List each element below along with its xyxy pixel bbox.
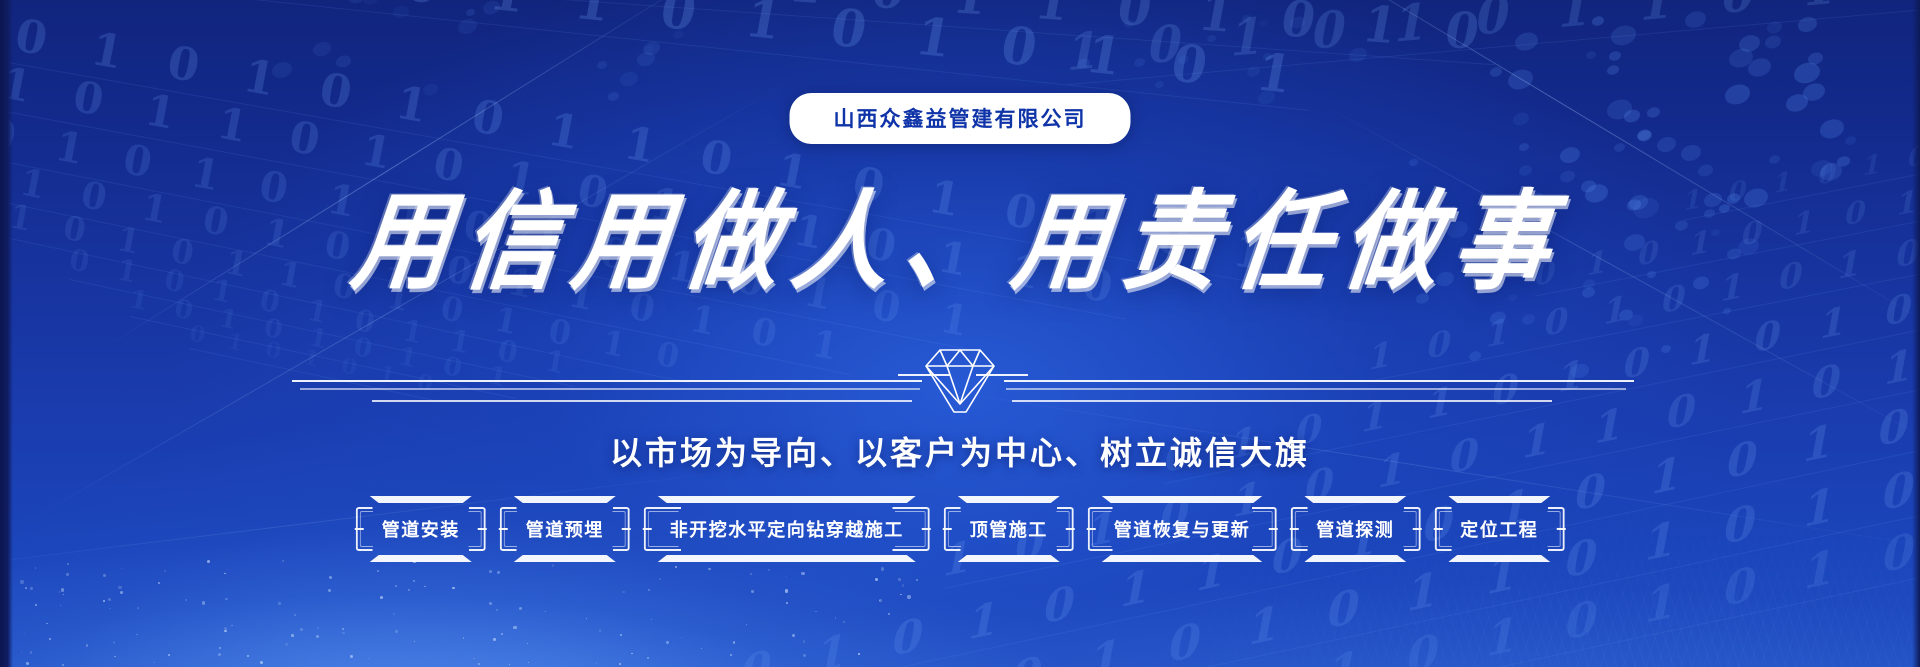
service-tag-row: 管道安装管道预埋非开挖水平定向钻穿越施工顶管施工管道恢复与更新管道探测定位工程 — [356, 507, 1565, 551]
tag-bar-bottom — [1448, 555, 1550, 562]
tag-bar-top — [658, 496, 916, 503]
tag-tick-left — [499, 528, 508, 530]
tag-tick-left — [643, 528, 652, 530]
headline-text: 用信用做人、用责任做事 — [345, 155, 1574, 311]
headline-slogan: 用信用做人、用责任做事 — [355, 163, 1565, 302]
tag-bar-top — [1304, 496, 1406, 503]
tag-bar-bottom — [1102, 555, 1263, 562]
right-edge-strip — [1912, 0, 1920, 667]
tag-tick-left — [1087, 528, 1096, 530]
tag-bar-bottom — [658, 555, 916, 562]
service-tag-6[interactable]: 管道探测 — [1290, 507, 1420, 551]
tag-tick-right — [1412, 528, 1421, 530]
tag-tick-left — [355, 528, 364, 530]
service-tag-4[interactable]: 顶管施工 — [944, 507, 1074, 551]
subtitle-slogan: 以市场为导向、以客户为中心、树立诚信大旗 — [610, 428, 1310, 474]
tag-tick-right — [922, 528, 931, 530]
tag-bar-top — [958, 496, 1060, 503]
company-name-pill: 山西众鑫益管建有限公司 — [790, 93, 1131, 144]
hero-banner: 1 0 1 0 1 1 0 1 0 1 0 1 0 1 0 1 0 1 0 1 … — [0, 0, 1920, 667]
tag-bar-bottom — [958, 555, 1060, 562]
tag-bar-top — [514, 496, 616, 503]
tag-tick-left — [943, 528, 952, 530]
divider-line — [372, 400, 912, 402]
service-tag-7[interactable]: 定位工程 — [1434, 507, 1564, 551]
service-tag-2[interactable]: 管道预埋 — [500, 507, 630, 551]
tag-tick-right — [1268, 528, 1277, 530]
tag-label: 管道预埋 — [526, 516, 604, 542]
left-edge-strip — [0, 0, 13, 667]
service-tag-5[interactable]: 管道恢复与更新 — [1088, 507, 1277, 551]
tag-tick-right — [478, 528, 487, 530]
tag-bar-bottom — [514, 555, 616, 562]
tag-label: 管道恢复与更新 — [1114, 516, 1251, 542]
tag-label: 顶管施工 — [970, 516, 1048, 542]
tag-bar-top — [1102, 496, 1263, 503]
diamond-icon — [914, 336, 1006, 414]
tag-tick-right — [1556, 528, 1565, 530]
company-name-label: 山西众鑫益管建有限公司 — [834, 107, 1087, 131]
service-tag-3[interactable]: 非开挖水平定向钻穿越施工 — [644, 507, 930, 551]
service-tag-1[interactable]: 管道安装 — [356, 507, 486, 551]
tag-bar-top — [370, 496, 472, 503]
divider-line — [292, 380, 922, 382]
tag-bar-bottom — [1304, 555, 1406, 562]
divider-line — [1012, 400, 1552, 402]
tag-label: 管道安装 — [382, 516, 460, 542]
tag-tick-left — [1289, 528, 1298, 530]
divider-line — [300, 388, 920, 390]
tag-label: 管道探测 — [1316, 516, 1394, 542]
tag-tick-left — [1433, 528, 1442, 530]
tag-tick-right — [622, 528, 631, 530]
divider-line — [1006, 388, 1626, 390]
banner-content: 山西众鑫益管建有限公司 用信用做人、用责任做事 — [0, 0, 1920, 667]
tag-bar-top — [1448, 496, 1550, 503]
divider-line — [1004, 380, 1634, 382]
tag-tick-right — [1066, 528, 1075, 530]
diamond-divider — [0, 336, 1920, 410]
tag-label: 定位工程 — [1460, 516, 1538, 542]
tag-label: 非开挖水平定向钻穿越施工 — [670, 516, 904, 542]
tag-bar-bottom — [370, 555, 472, 562]
